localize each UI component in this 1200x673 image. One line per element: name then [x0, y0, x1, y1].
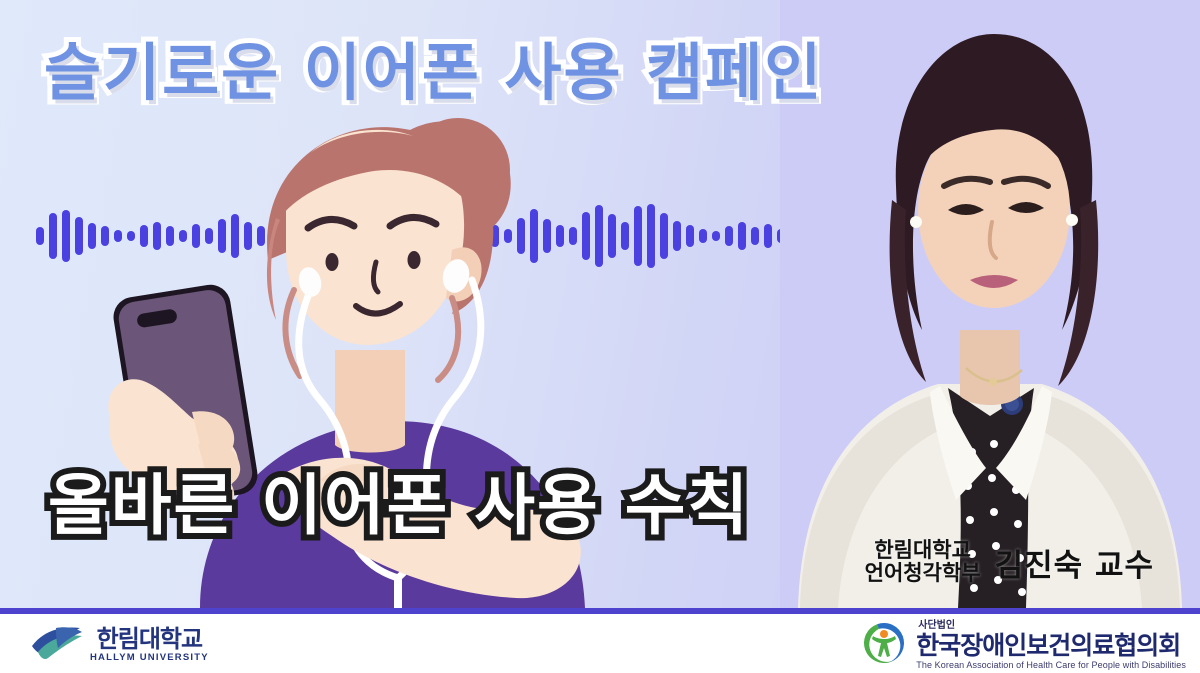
main-caption-title: 올바른 이어폰 사용 수칙 [48, 452, 750, 548]
waveform-bar [673, 221, 681, 251]
wave-logo-icon [28, 622, 84, 667]
footer-bar: 한림대학교 HALLYM UNIVERSITY 사단법인 한국장애인보건의료협의… [0, 614, 1200, 673]
kahd-english-name: The Korean Association of Health Care fo… [916, 661, 1186, 670]
waveform-bar [738, 222, 746, 250]
hallym-wordmark: 한림대학교 HALLYM UNIVERSITY [90, 627, 209, 663]
waveform-bar [686, 225, 694, 247]
speaker-affiliation: 한림대학교 언어청각학부 [865, 539, 981, 586]
kahd-wordmark: 사단법인 한국장애인보건의료협의회 The Korean Association… [916, 621, 1186, 670]
waveform-bar [751, 227, 759, 245]
waveform-bar [36, 227, 44, 245]
hallym-korean-name: 한림대학교 [97, 627, 202, 651]
waveform-bar [764, 224, 772, 248]
campaign-title: 슬기로운 이어폰 사용 캠페인 [44, 22, 823, 112]
speaker-name-block: 한림대학교 언어청각학부 김진숙 교수 [865, 539, 1154, 586]
waveform-bar [49, 213, 57, 259]
waveform-bar [712, 231, 720, 241]
kahd-association-logo: 사단법인 한국장애인보건의료협의회 The Korean Association… [860, 619, 1186, 672]
video-frame: 슬기로운 이어폰 사용 캠페인 올바른 이어폰 사용 수칙 한림대학교 언어청각… [0, 0, 1200, 673]
circle-person-logo-icon [860, 619, 908, 672]
waveform-bar [725, 226, 733, 246]
speaker-video-thumbnail [780, 0, 1200, 608]
kahd-prefix: 사단법인 [918, 621, 1186, 631]
waveform-bar [62, 210, 70, 262]
hallym-university-logo: 한림대학교 HALLYM UNIVERSITY [28, 622, 209, 667]
hallym-english-name: HALLYM UNIVERSITY [90, 653, 209, 663]
waveform-bar [647, 204, 655, 268]
video-content-area: 슬기로운 이어폰 사용 캠페인 올바른 이어폰 사용 수칙 한림대학교 언어청각… [0, 0, 1200, 608]
speaker-affiliation-line2: 언어청각학부 [865, 562, 981, 586]
speaker-affiliation-line1: 한림대학교 [865, 539, 981, 563]
kahd-korean-name: 한국장애인보건의료협의회 [916, 633, 1186, 658]
waveform-bar [699, 229, 707, 243]
speaker-person-name: 김진숙 교수 [995, 540, 1154, 585]
waveform-bar [660, 213, 668, 259]
